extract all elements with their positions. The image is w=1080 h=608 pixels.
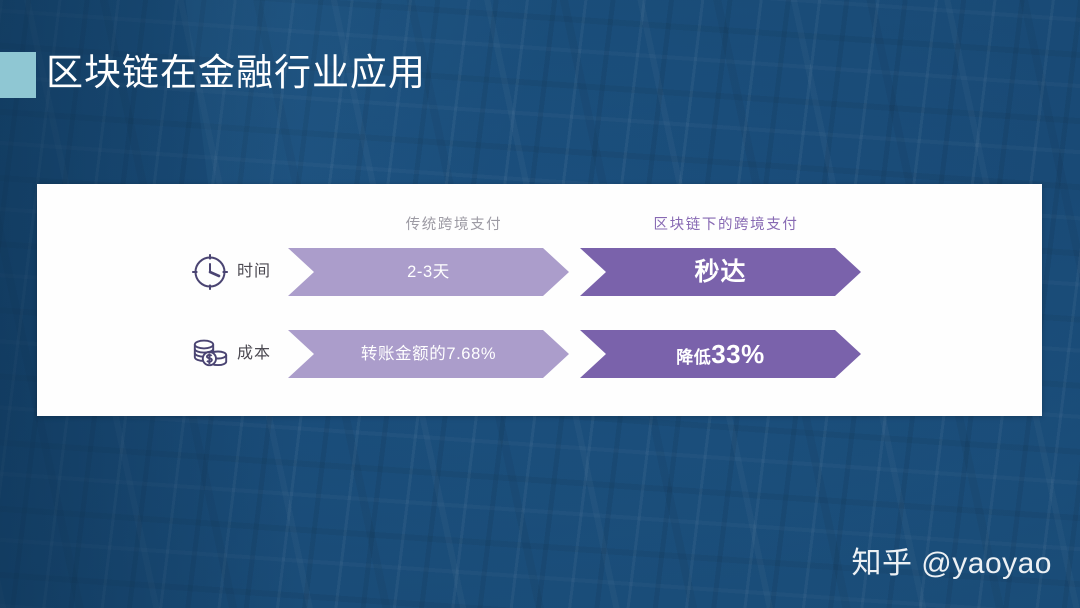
- value-blockchain-time: 秒达: [580, 248, 861, 296]
- comparison-row-cost: 成本 转账金额的7.68% 降低33%: [37, 330, 1042, 378]
- clock-icon: [189, 251, 231, 293]
- comparison-card: 传统跨境支付 区块链下的跨境支付 时间 2-3天 秒达: [37, 184, 1042, 416]
- slide: 区块链在金融行业应用 传统跨境支付 区块链下的跨境支付 时间 2-3天 秒: [0, 0, 1080, 608]
- column-header-traditional: 传统跨境支付: [325, 213, 583, 234]
- value-traditional-cost: 转账金额的7.68%: [288, 330, 569, 378]
- value-blockchain-cost-prefix: 降低: [676, 348, 711, 367]
- row-label-cost: 成本: [237, 330, 271, 378]
- title-accent-bar: [0, 52, 36, 98]
- watermark: 知乎 @yaoyao: [851, 538, 1052, 582]
- value-traditional-time: 2-3天: [288, 248, 569, 296]
- column-header-blockchain: 区块链下的跨境支付: [597, 213, 855, 234]
- comparison-row-time: 时间 2-3天 秒达: [37, 248, 1042, 296]
- value-blockchain-cost-number: 33%: [711, 339, 765, 369]
- value-blockchain-cost: 降低33%: [580, 330, 861, 378]
- coins-icon: [189, 333, 231, 375]
- row-label-time: 时间: [237, 248, 271, 296]
- page-title: 区块链在金融行业应用: [46, 44, 426, 102]
- value-blockchain-time-text: 秒达: [694, 258, 746, 286]
